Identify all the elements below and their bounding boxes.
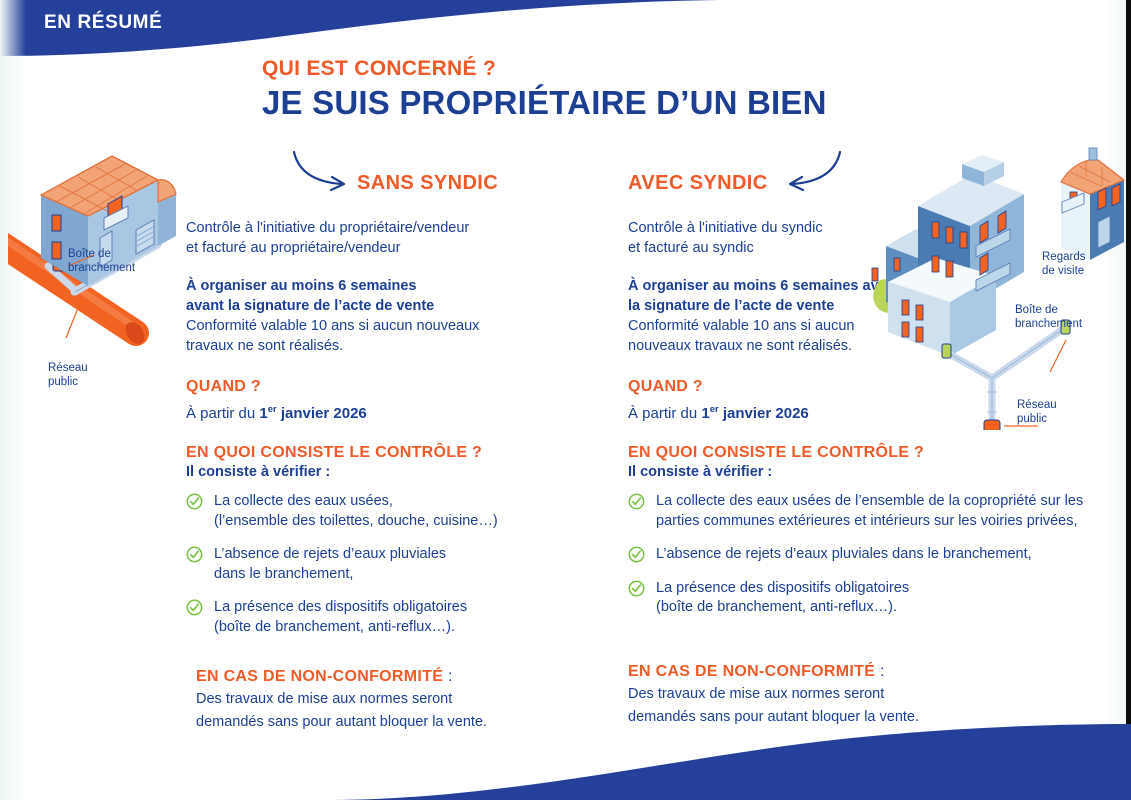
non-conformity-colon: : <box>443 668 453 685</box>
section-title-quand: QUAND ? <box>186 378 504 396</box>
non-conformity-title: EN CAS DE NON-CONFORMITÉ : <box>628 663 968 681</box>
label-boite-de-branchement-left: Boîte de branchement <box>68 247 135 275</box>
list-item: La collecte des eaux usées, (l’ensemble … <box>186 492 504 531</box>
top-banner: EN RÉSUMÉ <box>0 0 720 62</box>
leader-line <box>1050 340 1066 372</box>
quand-day: 1 <box>259 405 267 422</box>
check-circle-icon <box>628 493 645 510</box>
non-conformity-line-1: Des travaux de mise aux normes seront <box>628 684 968 704</box>
label-regards-de-visite: Regards de visite <box>1042 250 1085 278</box>
bottom-wave-decoration <box>330 710 1131 800</box>
list-item: L’absence de rejets d’eaux pluviales dan… <box>186 545 504 584</box>
label-line-1: Boîte de <box>1015 303 1082 317</box>
quand-ordinal: er <box>268 404 277 415</box>
column-heading-avec-syndic: AVEC SYNDIC <box>628 172 768 195</box>
check-circle-icon <box>186 493 203 510</box>
intro-line-1: Contrôle à l'initiative du propriétaire/… <box>186 218 504 238</box>
check-circle-icon <box>186 546 203 563</box>
label-line-2: public <box>48 375 88 389</box>
list-item-label: La présence des dispositifs obligatoires… <box>214 599 467 635</box>
leader-line <box>66 308 78 338</box>
list-item-label: L’absence de rejets d’eaux pluviales dan… <box>214 546 446 582</box>
quand-date-line: À partir du 1er janvier 2026 <box>186 404 504 422</box>
quand-day: 1 <box>701 405 709 422</box>
label-reseau-public-right: Réseau public <box>1017 398 1057 426</box>
label-line-2: public <box>1017 412 1057 426</box>
branch-box-marker <box>984 420 1000 430</box>
validity-line-2: travaux ne sont réalisés. <box>186 336 504 356</box>
label-line-1: Boîte de <box>68 247 135 261</box>
list-item-label: La collecte des eaux usées de l’ensemble… <box>656 493 1083 529</box>
infographic-page: EN RÉSUMÉ QUI EST CONCERNÉ ? JE SUIS PRO… <box>0 0 1131 800</box>
check-list: La collecte des eaux usées, (l’ensemble … <box>186 492 504 637</box>
non-conformity-title-text: EN CAS DE NON-CONFORMITÉ <box>196 668 443 685</box>
label-boite-de-branchement-right: Boîte de branchement <box>1015 303 1082 331</box>
intro-line-2: et facturé au propriétaire/vendeur <box>186 238 504 258</box>
curved-arrow-icon <box>782 148 844 197</box>
label-line-1: Réseau <box>48 361 88 375</box>
illustration-buildings-coproperty <box>858 130 1131 435</box>
non-conformity-title: EN CAS DE NON-CONFORMITÉ : <box>196 668 526 686</box>
column-sans-syndic: Contrôle à l'initiative du propriétaire/… <box>186 218 504 651</box>
page-title: JE SUIS PROPRIÉTAIRE D’UN BIEN <box>262 84 827 122</box>
quand-prefix: À partir du <box>186 405 259 422</box>
list-item: L’absence de rejets d’eaux pluviales dan… <box>628 545 1098 565</box>
validity-line-1: Conformité valable 10 ans si aucun nouve… <box>186 316 504 336</box>
list-item: La collecte des eaux usées de l’ensemble… <box>628 492 1098 531</box>
column-heading-sans-syndic: SANS SYNDIC <box>357 172 498 195</box>
list-item-label: L’absence de rejets d’eaux pluviales dan… <box>656 546 1032 562</box>
check-circle-icon <box>628 546 645 563</box>
page-kicker: QUI EST CONCERNÉ ? <box>262 57 496 81</box>
section-sub-verifier: Il consiste à vérifier : <box>628 464 1098 480</box>
check-list: La collecte des eaux usées de l’ensemble… <box>628 492 1098 618</box>
check-circle-icon <box>628 580 645 597</box>
label-reseau-public-left: Réseau public <box>48 361 88 389</box>
non-conformity-colon: : <box>875 663 885 680</box>
check-circle-icon <box>186 599 203 616</box>
bold-line-1: À organiser au moins 6 semaines <box>186 276 504 296</box>
list-item: La présence des dispositifs obligatoires… <box>628 579 1098 618</box>
label-line-2: de visite <box>1042 264 1085 278</box>
quand-ordinal: er <box>710 404 719 415</box>
section-title-controle: EN QUOI CONSISTE LE CONTRÔLE ? <box>186 444 504 462</box>
quand-month-year: janvier 2026 <box>277 405 367 422</box>
curved-arrow-icon <box>290 148 352 197</box>
bold-line-2: avant la signature de l’acte de vente <box>186 296 504 316</box>
label-line-1: Regards <box>1042 250 1085 264</box>
non-conformity-line-1: Des travaux de mise aux normes seront <box>196 689 526 709</box>
label-line-2: branchement <box>1015 317 1082 331</box>
quand-prefix: À partir du <box>628 405 701 422</box>
section-sub-verifier: Il consiste à vérifier : <box>186 464 504 480</box>
section-title-controle: EN QUOI CONSISTE LE CONTRÔLE ? <box>628 444 1098 462</box>
list-item: La présence des dispositifs obligatoires… <box>186 598 504 637</box>
small-house-shape <box>1061 148 1124 260</box>
non-conformity-title-text: EN CAS DE NON-CONFORMITÉ <box>628 663 875 680</box>
apartment-block <box>872 155 1024 356</box>
banner-label: EN RÉSUMÉ <box>44 12 162 34</box>
list-item-label: La présence des dispositifs obligatoires… <box>656 580 909 616</box>
label-line-1: Réseau <box>1017 398 1057 412</box>
label-line-2: branchement <box>68 261 135 275</box>
quand-month-year: janvier 2026 <box>719 405 809 422</box>
list-item-label: La collecte des eaux usées, (l’ensemble … <box>214 493 498 529</box>
